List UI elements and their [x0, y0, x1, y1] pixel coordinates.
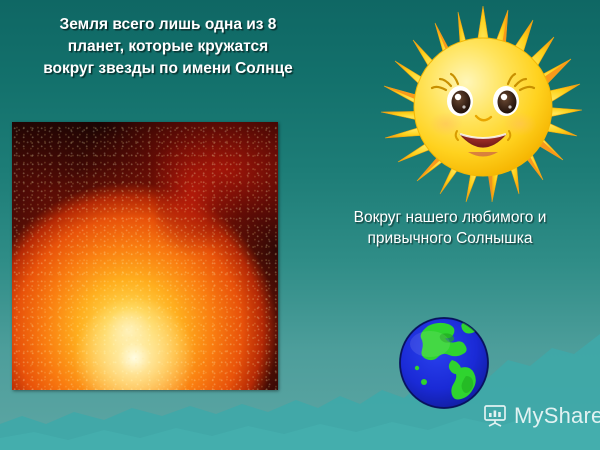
presentation-chart-icon	[482, 403, 508, 429]
caption-line-1: Вокруг нашего любимого и	[304, 207, 596, 228]
slide-caption: Вокруг нашего любимого и привычного Солн…	[304, 207, 596, 249]
title-line-1: Земля всего лишь одна из 8	[8, 14, 328, 36]
earth-globe-illustration	[396, 316, 492, 410]
title-line-2: планет, которые кружатся	[8, 36, 328, 58]
sun-granulation-texture	[12, 122, 278, 390]
caption-line-2: привычного Солнышка	[304, 228, 596, 249]
presentation-slide: Земля всего лишь одна из 8 планет, котор…	[0, 0, 600, 450]
slide-title: Земля всего лишь одна из 8 планет, котор…	[8, 14, 328, 80]
sun-photograph	[12, 122, 278, 390]
myshared-watermark[interactable]: MyShared	[482, 403, 600, 429]
title-line-3: вокруг звезды по имени Солнце	[8, 58, 328, 80]
myshared-brand-text: MyShared	[514, 405, 600, 427]
cartoon-sun-illustration	[372, 4, 594, 212]
